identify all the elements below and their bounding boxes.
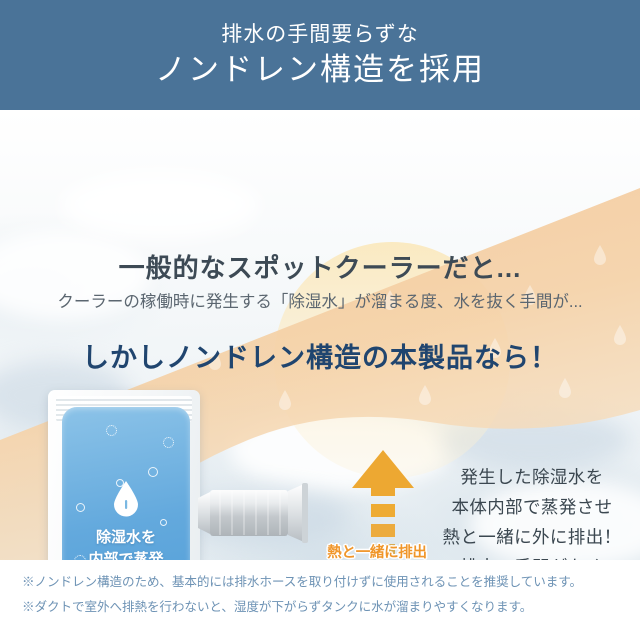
solution-title: しかしノンドレン構造の本製品なら！	[0, 336, 640, 375]
footer-note: ※ダクトで室外へ排熱を行わないと、湿度が下がらずタンクに水が溜まりやすくなります…	[0, 595, 640, 620]
bubble-icon	[160, 519, 167, 526]
bubble-burst-icon	[163, 437, 174, 448]
footer-notes: ※ノンドレン構造のため、基本的には排水ホースを取り付けずに使用されることを推奨し…	[0, 560, 640, 640]
main-illustration-area: 一般的なスポットクーラーだと... クーラーの稼働時に発生する「除湿水」が溜まる…	[0, 110, 640, 560]
evaporation-panel: 除湿水を 内部で蒸発	[62, 407, 190, 560]
problem-subtitle: クーラーの稼働時に発生する「除湿水」が溜まる度、水を抜く手間が...	[0, 288, 640, 312]
panel-label-line2: 内部で蒸発	[62, 549, 190, 560]
footer-note: ※ノンドレン構造のため、基本的には排水ホースを取り付けずに使用されることを推奨し…	[0, 570, 640, 595]
arrow-label: 熱と一緒に排出	[316, 541, 438, 560]
benefit-line: 排水の手間がなく	[432, 552, 632, 560]
infographic-page: 排水の手間要らずな ノンドレン構造を採用	[0, 0, 640, 640]
texture-shadow	[440, 410, 630, 470]
duct-hose	[196, 482, 344, 544]
benefit-line: 本体内部で蒸発させ	[432, 492, 632, 522]
bubble-icon	[76, 503, 85, 512]
header-banner: 排水の手間要らずな ノンドレン構造を採用	[0, 0, 640, 110]
benefit-line: 熱と一緒に外に排出！	[432, 522, 632, 552]
bubble-burst-icon	[106, 425, 117, 436]
header-title: ノンドレン構造を採用	[155, 51, 485, 88]
bubble-icon	[148, 467, 158, 477]
benefit-text-block: 発生した除湿水を 本体内部で蒸発させ 熱と一緒に外に排出！ 排水の手間がなく 楽…	[432, 462, 632, 560]
texture-highlight	[230, 410, 450, 490]
water-drop-icon	[111, 479, 141, 522]
panel-label-line1: 除湿水を	[62, 527, 190, 549]
texture-highlight	[60, 170, 260, 240]
panel-label: 除湿水を 内部で蒸発	[62, 527, 190, 560]
benefit-line: 発生した除湿水を	[432, 462, 632, 492]
header-subtitle: 排水の手間要らずな	[221, 22, 419, 47]
problem-title: 一般的なスポットクーラーだと...	[0, 248, 640, 285]
